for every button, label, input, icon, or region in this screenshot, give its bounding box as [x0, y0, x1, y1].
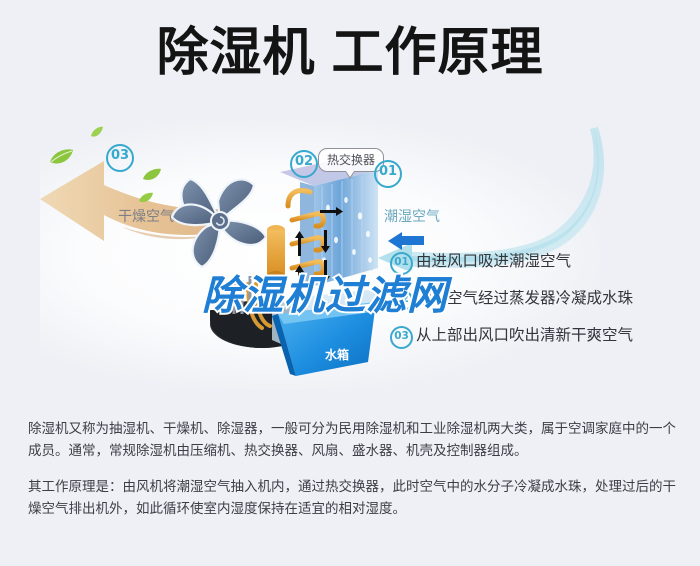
page-title: 除湿机工作原理	[0, 22, 700, 84]
leaf-icon	[90, 126, 104, 138]
watermark-text: 除湿机过滤网	[202, 263, 448, 321]
badge-03-dry-air: 03	[106, 144, 134, 172]
description-block: 除湿机又称为抽湿机、干燥机、除湿器，一般可分为民用除湿机和工业除湿机两大类，属于…	[28, 418, 676, 534]
badge-02-heat-exchanger: 02	[290, 150, 318, 178]
leaf-icon	[138, 192, 154, 204]
description-paragraph-2: 其工作原理是：由风机将潮湿空气抽入机内，通过热交换器，此时空气中的水分子冷凝成水…	[28, 476, 676, 520]
step-text: 潮湿空气经过蒸发器冷凝成水珠	[416, 286, 633, 308]
step-number-badge: 03	[390, 326, 413, 349]
page-title-part1: 除湿机	[156, 23, 315, 83]
step-item: 03 从上部出风口吹出清新干爽空气	[390, 322, 690, 359]
step-text: 从上部出风口吹出清新干爽空气	[416, 323, 633, 345]
description-paragraph-1: 除湿机又称为抽湿机、干燥机、除湿器，一般可分为民用除湿机和工业除湿机两大类，属于…	[28, 418, 676, 462]
leaf-icon	[48, 148, 74, 166]
page-title-part2: 工作原理	[332, 23, 544, 83]
badge-01-humid-air: 01	[374, 160, 402, 188]
leaf-icon	[142, 168, 162, 182]
label-humid-air: 潮湿空气	[384, 206, 440, 226]
label-water-tank: 水箱	[325, 346, 349, 363]
label-dry-air: 干燥空气	[118, 206, 174, 226]
poster-canvas: 除湿机工作原理	[0, 0, 700, 566]
